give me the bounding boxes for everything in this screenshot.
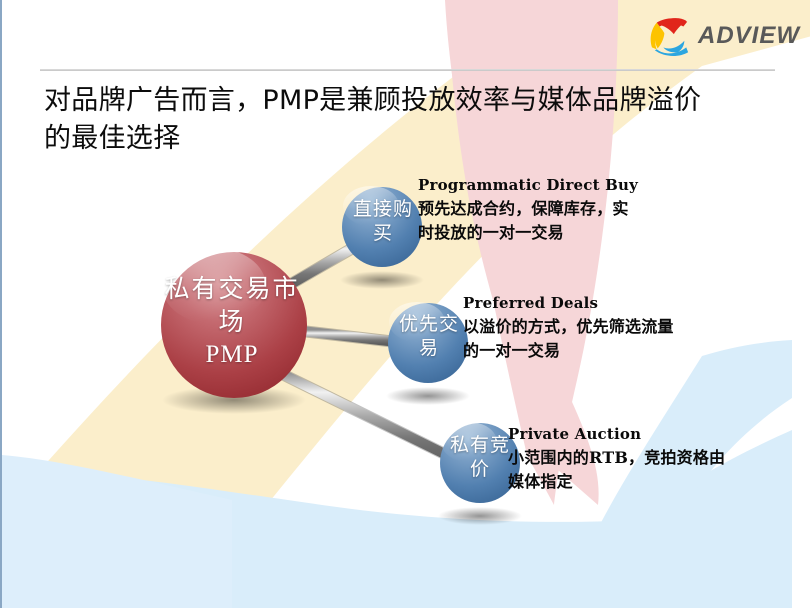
- brand-logo: ADVIEW: [650, 12, 800, 60]
- hub-node-pmp[interactable]: [161, 248, 307, 398]
- description-heading: Preferred Deals: [463, 294, 678, 312]
- description-body: 以溢价的方式，优先筛选流量的一对一交易: [463, 315, 678, 362]
- node2-shadow: [386, 387, 470, 405]
- hub-shadow: [162, 386, 306, 414]
- page-title: 对品牌广告而言，PMP是兼顾投放效率与媒体品牌溢价的最佳选择: [44, 82, 719, 159]
- hub-label-cn: 私有交易市场: [160, 272, 304, 338]
- node1-shadow: [340, 271, 424, 289]
- description-body: 预先达成合约，保障库存，实时投放的一对一交易: [418, 197, 633, 244]
- slide-canvas: ADVIEW 对品牌广告而言，PMP是兼顾投放效率与媒体品牌溢价的最佳选择: [0, 0, 810, 608]
- blue-bottom-band-left: [2, 455, 232, 608]
- spoke-node-label-direct-buy: 直接购买: [345, 198, 421, 246]
- spoke-node-direct-buy[interactable]: [342, 186, 422, 267]
- brand-wordmark: ADVIEW: [698, 24, 800, 48]
- connector-hub-to-direct-buy: [284, 238, 370, 288]
- spoke-node-label-private-auction: 私有竞价: [442, 434, 518, 482]
- description-private-auction: Private Auction 小范围内的RTB，竞拍资格由媒体指定: [508, 425, 730, 493]
- description-preferred-deals: Preferred Deals 以溢价的方式，优先筛选流量的一对一交易: [463, 294, 678, 362]
- adview-triangle-swoosh-logo-icon: [650, 16, 692, 56]
- connector-hub-to-preferred-deals: [293, 330, 414, 344]
- header-divider: [40, 69, 775, 71]
- description-body: 小范围内的RTB，竞拍资格由媒体指定: [508, 446, 730, 493]
- hub-label-en: PMP: [160, 338, 304, 371]
- connector-lines: [278, 238, 465, 464]
- description-direct-buy: Programmatic Direct Buy 预先达成合约，保障库存，实时投放…: [418, 176, 633, 244]
- spoke-node-preferred-deals[interactable]: [388, 302, 468, 383]
- node3-shadow: [438, 507, 522, 525]
- connector-hub-to-private-auction: [278, 372, 465, 464]
- hub-node-label: 私有交易市场 PMP: [160, 272, 304, 371]
- description-heading: Private Auction: [508, 425, 730, 443]
- description-heading: Programmatic Direct Buy: [418, 176, 633, 194]
- spoke-node-label-preferred-deals: 优先交易: [391, 313, 467, 361]
